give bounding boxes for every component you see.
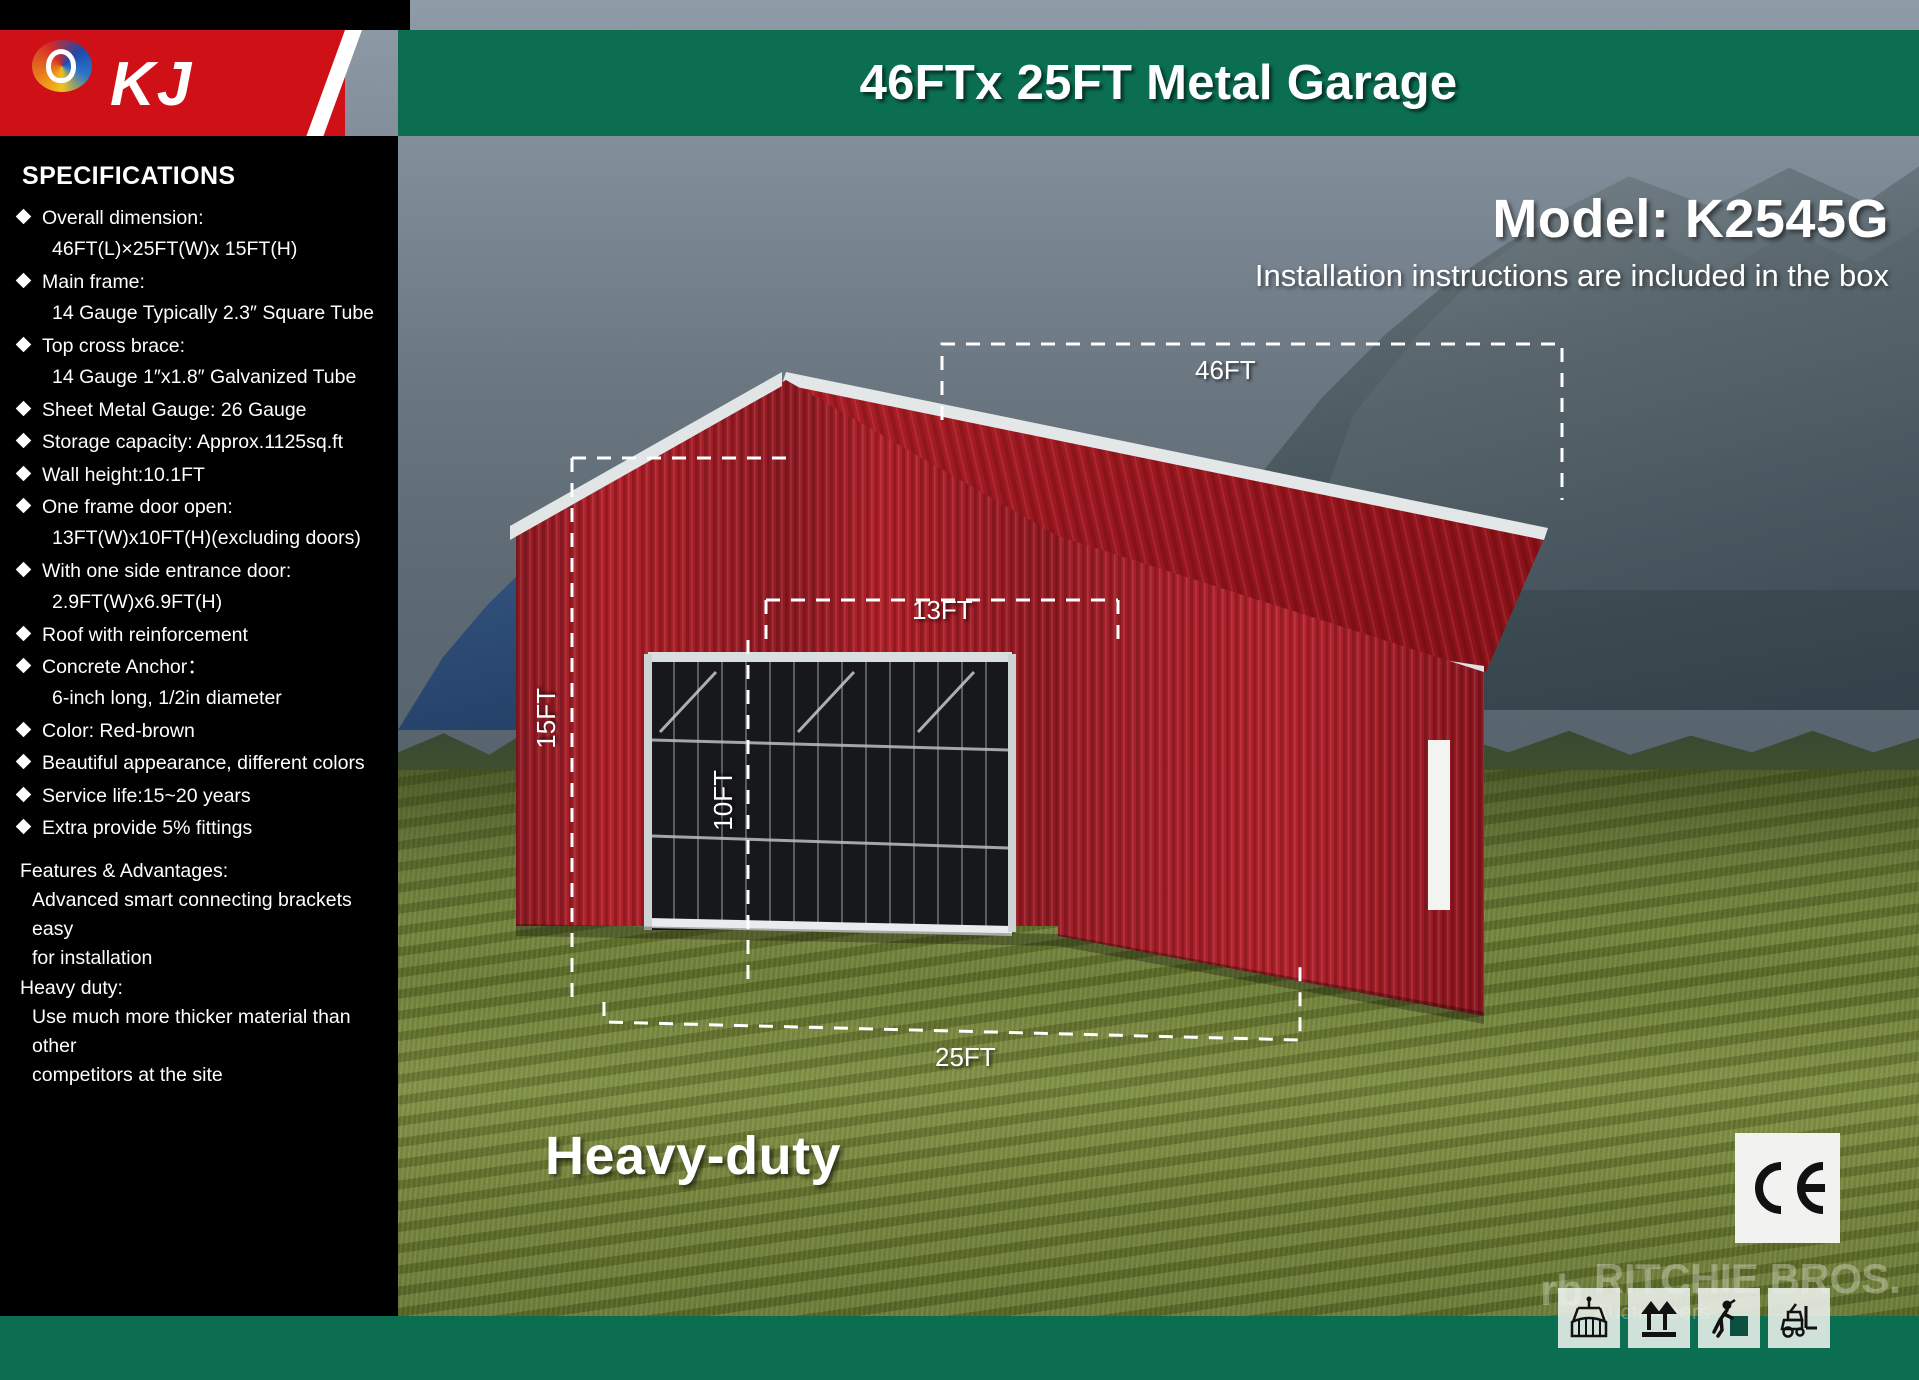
this-way-up-icon (1628, 1288, 1690, 1348)
dimension-label-length: 46FT (1195, 355, 1256, 386)
tagline: Heavy-duty (545, 1125, 841, 1187)
ce-mark-badge (1735, 1133, 1840, 1243)
sling-here-icon (1558, 1288, 1620, 1348)
do-not-climb-icon (1698, 1288, 1760, 1348)
dimension-label-height: 15FT (531, 688, 562, 749)
product-spec-sheet: 46FTx 25FT Metal Garage KJ SPECIFICATION… (0, 0, 1919, 1380)
model-label: Model: K2545G (1492, 188, 1889, 250)
forklift-icon (1768, 1288, 1830, 1348)
installation-note: Installation instructions are included i… (1255, 258, 1889, 294)
dimension-label-door-width: 13FT (912, 595, 973, 626)
ce-icon (1745, 1159, 1831, 1217)
handling-pictograms (1558, 1288, 1830, 1348)
dimension-label-width: 25FT (935, 1042, 996, 1073)
dimension-label-door-height: 10FT (708, 770, 739, 831)
